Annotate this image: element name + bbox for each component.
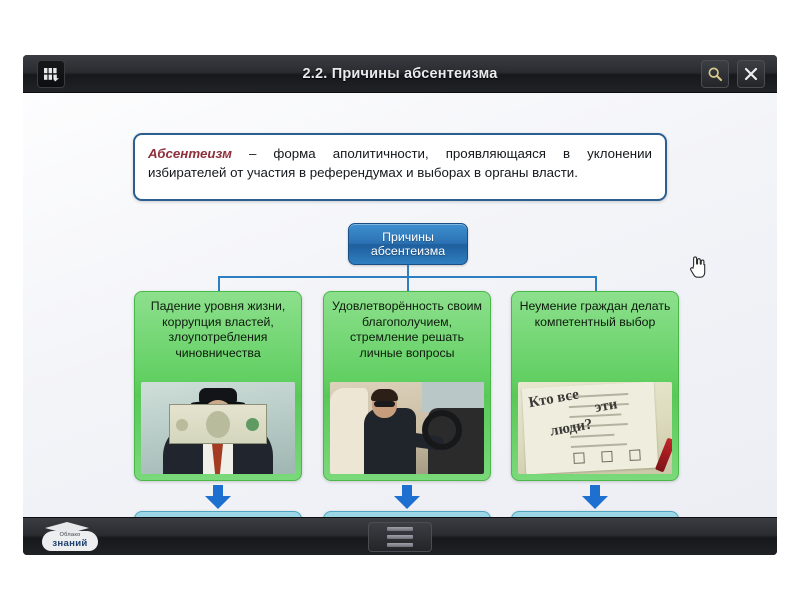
slide-canvas: Абсентеизм – форма аполитичности, проявл… bbox=[23, 93, 777, 517]
cause-card-1: Падение уровня жизни, коррупция властей,… bbox=[134, 291, 302, 481]
application-root: 2.2. Причины абсентеизма Абсентеизм – фо… bbox=[0, 0, 800, 600]
connector-drop-3 bbox=[595, 278, 597, 291]
connector-stem bbox=[407, 265, 409, 276]
diagram-root-node: Причиныабсентеизма bbox=[348, 223, 468, 265]
cause-label-2: Удовлетворённость своим благополучием, с… bbox=[329, 299, 485, 361]
cause-label-1: Падение уровня жизни, коррупция властей,… bbox=[140, 299, 296, 361]
arrow-down-2 bbox=[394, 485, 420, 509]
cause-image-3: Кто все эти люди? bbox=[518, 382, 672, 474]
definition-text: Абсентеизм – форма аполитичности, проявл… bbox=[148, 144, 652, 182]
cause-image-2 bbox=[330, 382, 484, 474]
brand-logo[interactable]: Облако знаний bbox=[37, 521, 103, 553]
cause-label-3: Неумение граждан делать компетентный выб… bbox=[517, 299, 673, 361]
cause-card-2: Удовлетворённость своим благополучием, с… bbox=[323, 291, 491, 481]
connector-drop-2 bbox=[407, 278, 409, 291]
illustration-dollar-face bbox=[141, 382, 295, 474]
cause-card-3: Неумение граждан делать компетентный выб… bbox=[511, 291, 679, 481]
bottom-bar: Облако знаний bbox=[23, 517, 777, 555]
connector-drop-1 bbox=[218, 278, 220, 291]
definition-box: Абсентеизм – форма аполитичности, проявл… bbox=[133, 133, 667, 201]
arrow-down-3 bbox=[582, 485, 608, 509]
hamburger-menu-icon[interactable] bbox=[368, 522, 432, 552]
ballot-handwriting-line-1: Кто все bbox=[527, 387, 580, 413]
illustration-ballot-note: Кто все эти люди? bbox=[518, 382, 672, 474]
logo-line-2: знаний bbox=[37, 538, 103, 549]
arrow-down-1 bbox=[205, 485, 231, 509]
page-title: 2.2. Причины абсентеизма bbox=[23, 55, 777, 93]
close-icon[interactable] bbox=[737, 60, 765, 88]
title-bar: 2.2. Причины абсентеизма bbox=[23, 55, 777, 93]
diagram-root-label: Причиныабсентеизма bbox=[371, 230, 445, 259]
search-icon[interactable] bbox=[701, 60, 729, 88]
illustration-luxury-car bbox=[330, 382, 484, 474]
grid-icon[interactable] bbox=[37, 60, 65, 88]
cause-image-1 bbox=[141, 382, 295, 474]
definition-term: Абсентеизм bbox=[148, 146, 232, 161]
presentation-player-window: 2.2. Причины абсентеизма Абсентеизм – фо… bbox=[23, 55, 777, 555]
